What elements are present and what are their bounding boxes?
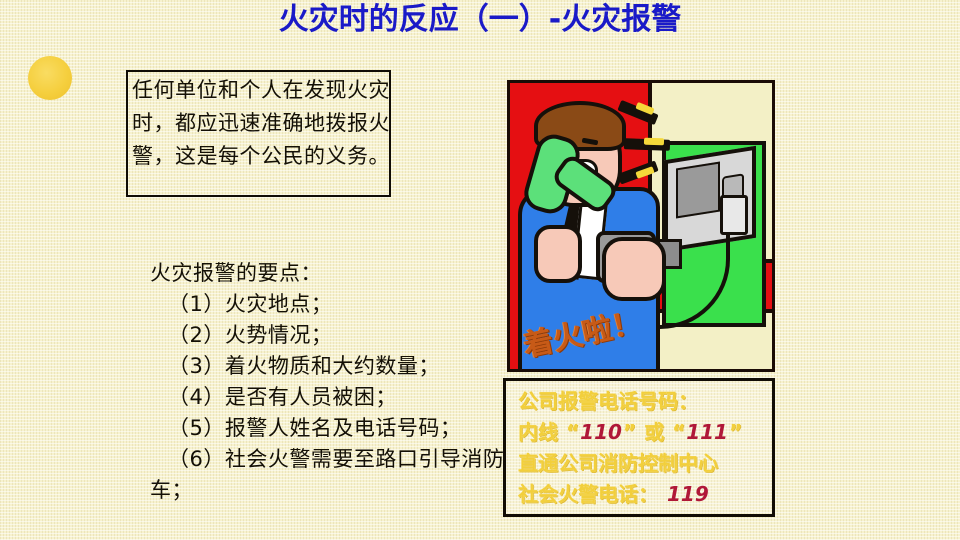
phone-box-line-2: 内线“110”或“111” (518, 420, 770, 444)
key-points-heading: 火灾报警的要点： (150, 258, 510, 289)
list-item: （6）社会火警需要至路口引导消防车； (150, 444, 510, 506)
emergency-phone-box: 公司报警电话号码： 内线“110”或“111” 直通公司消防控制中心 社会火警电… (503, 378, 775, 517)
payphone-hook (720, 195, 748, 235)
phone-box-line-4: 社会火警电话：119 (518, 482, 770, 506)
quote-open-icon: “ (672, 420, 685, 444)
phone-box-line-2-middle: 或 (644, 420, 664, 444)
shout-burst-highlight (644, 138, 664, 146)
phone-number-111: 111 (685, 420, 729, 444)
phone-number-119: 119 (666, 482, 710, 506)
quote-close-icon: ” (729, 420, 742, 444)
quote-open-icon: “ (566, 420, 579, 444)
fire-alarm-illustration: 着火啦！ (507, 80, 775, 372)
list-item: （5）报警人姓名及电话号码； (150, 413, 510, 444)
quote-close-icon: ” (623, 420, 636, 444)
payphone-keypad (676, 162, 720, 219)
person-hand-right (602, 237, 666, 301)
key-points-list: 火灾报警的要点： （1）火灾地点； （2）火势情况； （3）着火物质和大约数量；… (150, 258, 510, 506)
list-item: （2）火势情况； (150, 320, 510, 351)
page-title: 火灾时的反应（一）-火灾报警 (0, 2, 960, 38)
slide-canvas: 火灾时的反应（一）-火灾报警 任何单位和个人在发现火灾时，都应迅速准确地拨报火警… (0, 0, 960, 540)
phone-box-line-1: 公司报警电话号码： (518, 389, 770, 413)
phone-number-110: 110 (579, 420, 623, 444)
decorative-yellow-circle (28, 56, 72, 100)
phone-box-line-3: 直通公司消防控制中心 (518, 451, 770, 475)
phone-box-line-2-prefix: 内线 (518, 420, 558, 444)
quote-text: 任何单位和个人在发现火灾时，都应迅速准确地拨报火警，这是每个公民的义务。 (130, 74, 392, 173)
list-item: （3）着火物质和大约数量； (150, 351, 510, 382)
list-item: （1）火灾地点； (150, 289, 510, 320)
person-hand-left (534, 225, 582, 283)
phone-box-line-4-prefix: 社会火警电话： (518, 482, 658, 506)
list-item: （4）是否有人员被困； (150, 382, 510, 413)
